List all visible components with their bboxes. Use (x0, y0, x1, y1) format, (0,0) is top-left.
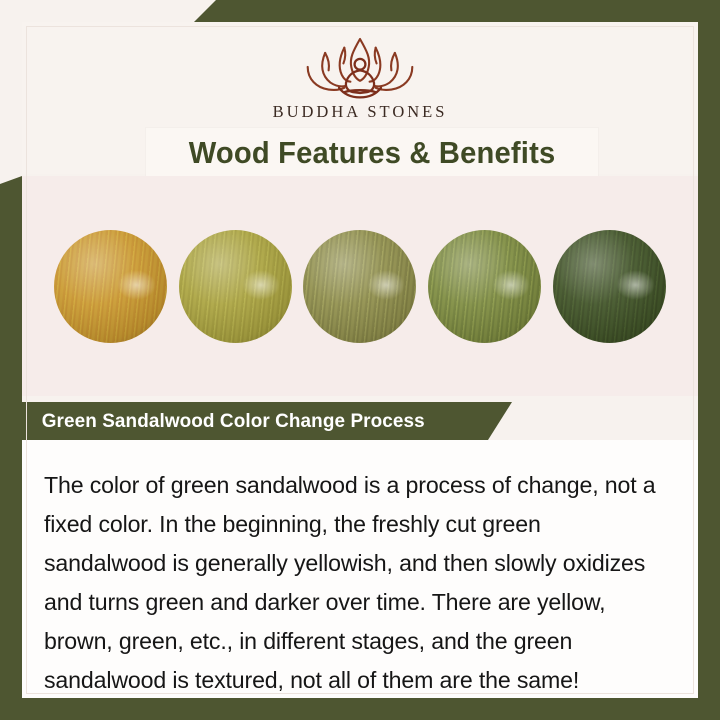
bead-stage-4 (428, 230, 541, 343)
poster-root: BUDDHA STONES Wood Features & Benefits G… (0, 0, 720, 720)
bead-shading (179, 230, 292, 343)
frame-right-band (698, 0, 720, 720)
bead-stage-3 (303, 230, 416, 343)
bead-stage-1 (54, 230, 167, 343)
bead-stage-5 (553, 230, 666, 343)
body-panel: The color of green sandalwood is a proce… (22, 440, 698, 698)
bead-shading (428, 230, 541, 343)
lotus-meditation-icon (290, 32, 430, 100)
bead-gallery (22, 176, 698, 396)
brand-name: BUDDHA STONES (273, 102, 448, 122)
section-banner: Green Sandalwood Color Change Process (22, 402, 512, 440)
section-banner-label: Green Sandalwood Color Change Process (28, 410, 425, 433)
bead-shading (303, 230, 416, 343)
frame-left-band (0, 176, 22, 720)
bead-shading (553, 230, 666, 343)
page-title: Wood Features & Benefits (146, 128, 598, 178)
body-paragraph: The color of green sandalwood is a proce… (44, 466, 665, 700)
frame-bottom-band (0, 698, 720, 720)
bead-shading (54, 230, 167, 343)
page-title-text: Wood Features & Benefits (189, 135, 556, 171)
bead-stage-2 (179, 230, 292, 343)
